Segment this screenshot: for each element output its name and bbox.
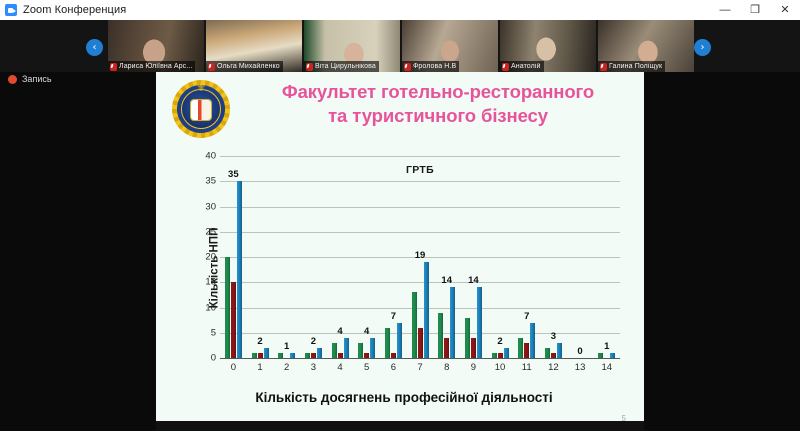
x-tick-label: 4 xyxy=(327,362,354,378)
bar-group: 1 xyxy=(273,156,300,358)
recording-indicator[interactable]: Запись xyxy=(8,74,52,84)
window-controls: — ❐ ✕ xyxy=(710,0,800,20)
participant-nameplate: Віта Цирульнікова xyxy=(304,61,379,72)
bar-value-label: 14 xyxy=(468,275,479,286)
bar-group: 14 xyxy=(433,156,460,358)
muted-mic-icon xyxy=(110,63,117,71)
bar xyxy=(557,343,562,358)
video-tile[interactable]: Віта Цирульнікова xyxy=(304,20,400,72)
muted-mic-icon xyxy=(306,63,313,71)
zoom-app-icon xyxy=(5,4,17,16)
bar xyxy=(237,181,242,358)
video-tile[interactable]: Лариса Юліївна Арс... xyxy=(108,20,204,72)
bar xyxy=(450,287,455,358)
bar-value-label: 0 xyxy=(577,346,582,357)
participant-nameplate: Фролова Н.В xyxy=(402,61,459,72)
bar xyxy=(332,343,337,358)
bar-group: 3 xyxy=(540,156,567,358)
bar-group: 35 xyxy=(220,156,247,358)
bar xyxy=(504,348,509,358)
participant-filmstrip: ‹ › Лариса Юліївна Арс... Ольга Михайлен… xyxy=(0,20,800,72)
bar-value-label: 4 xyxy=(364,326,369,337)
bar xyxy=(545,348,550,358)
bar-group: 19 xyxy=(407,156,434,358)
plot-area: 0510152025303540 ГРТБ 352124471914142730… xyxy=(220,156,620,358)
participant-nameplate: Ольга Михайленко xyxy=(206,61,283,72)
x-tick-label: 6 xyxy=(380,362,407,378)
muted-mic-icon xyxy=(600,63,607,71)
bar-group: 7 xyxy=(380,156,407,358)
x-tick-label: 3 xyxy=(300,362,327,378)
bar xyxy=(444,338,449,358)
x-tick-label: 7 xyxy=(407,362,434,378)
y-tick-label: 30 xyxy=(194,201,216,212)
participant-name: Віта Цирульнікова xyxy=(315,63,376,70)
bar xyxy=(412,292,417,358)
bar xyxy=(518,338,523,358)
y-axis-ticks: 0510152025303540 xyxy=(194,156,216,358)
bar-value-label: 7 xyxy=(391,311,396,322)
bar-group: 2 xyxy=(247,156,274,358)
bar-value-label: 35 xyxy=(228,169,239,180)
participant-name: Галина Поліщук xyxy=(609,63,662,70)
bar xyxy=(438,313,443,358)
bar-group: 0 xyxy=(567,156,594,358)
bar-group: 2 xyxy=(300,156,327,358)
x-tick-label: 8 xyxy=(433,362,460,378)
bar-group: 2 xyxy=(487,156,514,358)
x-tick-label: 13 xyxy=(567,362,594,378)
bar xyxy=(317,348,322,358)
muted-mic-icon xyxy=(208,63,215,71)
university-crest-icon: ⚜ xyxy=(172,80,230,138)
trident-icon: ⚜ xyxy=(196,82,206,93)
x-tick-label: 9 xyxy=(460,362,487,378)
window-title: Zoom Конференция xyxy=(23,4,126,16)
y-tick-label: 0 xyxy=(194,353,216,364)
video-tile[interactable]: Галина Поліщук xyxy=(598,20,694,72)
close-button[interactable]: ✕ xyxy=(770,0,800,20)
x-axis-label: Кількість досягнень професійної діяльнос… xyxy=(174,390,634,405)
y-tick-label: 25 xyxy=(194,226,216,237)
participant-name: Анатолій xyxy=(511,63,541,70)
participant-name: Ольга Михайленко xyxy=(217,63,280,70)
slide-title: Факультет готельно-ресторанного та турис… xyxy=(242,80,634,127)
slide-bottom-strip xyxy=(156,421,644,431)
shared-screen-slide: ⚜ Факультет готельно-ресторанного та тур… xyxy=(156,72,644,431)
bar-value-label: 2 xyxy=(257,336,262,347)
bar-value-label: 4 xyxy=(337,326,342,337)
bar-value-label: 1 xyxy=(284,341,289,352)
minimize-button[interactable]: — xyxy=(710,0,740,20)
bar xyxy=(225,257,230,358)
bar xyxy=(231,282,236,358)
bar-value-label: 3 xyxy=(551,331,556,342)
window-titlebar: Zoom Конференция — ❐ ✕ xyxy=(0,0,800,20)
participant-nameplate: Лариса Юліївна Арс... xyxy=(108,61,195,72)
bar-group: 7 xyxy=(513,156,540,358)
participant-name: Лариса Юліївна Арс... xyxy=(119,63,192,70)
x-axis-line xyxy=(220,358,620,359)
bar-groups: 3521244719141427301 xyxy=(220,156,620,358)
y-tick-label: 15 xyxy=(194,277,216,288)
bar-value-label: 1 xyxy=(604,341,609,352)
bar-group: 1 xyxy=(593,156,620,358)
bar-value-label: 2 xyxy=(311,336,316,347)
participant-nameplate: Анатолій xyxy=(500,61,544,72)
filmstrip-next-arrow[interactable]: › xyxy=(694,39,711,56)
bar-value-label: 2 xyxy=(497,336,502,347)
y-tick-label: 20 xyxy=(194,252,216,263)
slide-title-line-1: Факультет готельно-ресторанного xyxy=(242,80,634,104)
y-tick-label: 5 xyxy=(194,327,216,338)
x-tick-label: 10 xyxy=(487,362,514,378)
bar xyxy=(264,348,269,358)
x-tick-label: 11 xyxy=(513,362,540,378)
recording-label: Запись xyxy=(22,74,52,84)
bar-group: 4 xyxy=(327,156,354,358)
x-tick-label: 0 xyxy=(220,362,247,378)
muted-mic-icon xyxy=(502,63,509,71)
bar-group: 4 xyxy=(353,156,380,358)
video-tile[interactable]: Анатолій xyxy=(500,20,596,72)
bar-group: 14 xyxy=(460,156,487,358)
zoom-meeting-window: Zoom Конференция — ❐ ✕ ‹ › Лариса Юліївн… xyxy=(0,0,800,431)
bar xyxy=(530,323,535,358)
bar xyxy=(397,323,402,358)
y-tick-label: 35 xyxy=(194,176,216,187)
video-tile-list: Лариса Юліївна Арс... Ольга Михайленко В… xyxy=(108,20,694,72)
y-tick-label: 40 xyxy=(194,151,216,162)
slide-header: ⚜ Факультет готельно-ресторанного та тур… xyxy=(156,72,644,144)
participant-nameplate: Галина Поліщук xyxy=(598,61,665,72)
x-tick-label: 5 xyxy=(353,362,380,378)
y-tick-label: 10 xyxy=(194,302,216,313)
bar xyxy=(418,328,423,358)
x-tick-label: 1 xyxy=(247,362,274,378)
bar xyxy=(524,343,529,358)
x-axis-ticks: 01234567891011121314 xyxy=(220,362,620,378)
bar-value-label: 7 xyxy=(524,311,529,322)
bar xyxy=(465,318,470,358)
filmstrip-prev-arrow[interactable]: ‹ xyxy=(86,39,103,56)
record-dot-icon xyxy=(8,75,17,84)
x-tick-label: 14 xyxy=(593,362,620,378)
video-tile[interactable]: Фролова Н.В xyxy=(402,20,498,72)
video-tile[interactable]: Ольга Михайленко xyxy=(206,20,302,72)
bar-chart: Кількість НПП 0510152025303540 ГРТБ 3521… xyxy=(174,152,626,384)
bar xyxy=(358,343,363,358)
bar xyxy=(477,287,482,358)
bar-value-label: 19 xyxy=(415,250,426,261)
participant-name: Фролова Н.В xyxy=(413,63,456,70)
bar-value-label: 14 xyxy=(441,275,452,286)
restore-button[interactable]: ❐ xyxy=(740,0,770,20)
bar xyxy=(370,338,375,358)
bar xyxy=(385,328,390,358)
bar xyxy=(344,338,349,358)
x-tick-label: 12 xyxy=(540,362,567,378)
slide-title-line-2: та туристичного бізнесу xyxy=(242,104,634,128)
bar xyxy=(424,262,429,358)
x-tick-label: 2 xyxy=(273,362,300,378)
bar xyxy=(471,338,476,358)
muted-mic-icon xyxy=(404,63,411,71)
